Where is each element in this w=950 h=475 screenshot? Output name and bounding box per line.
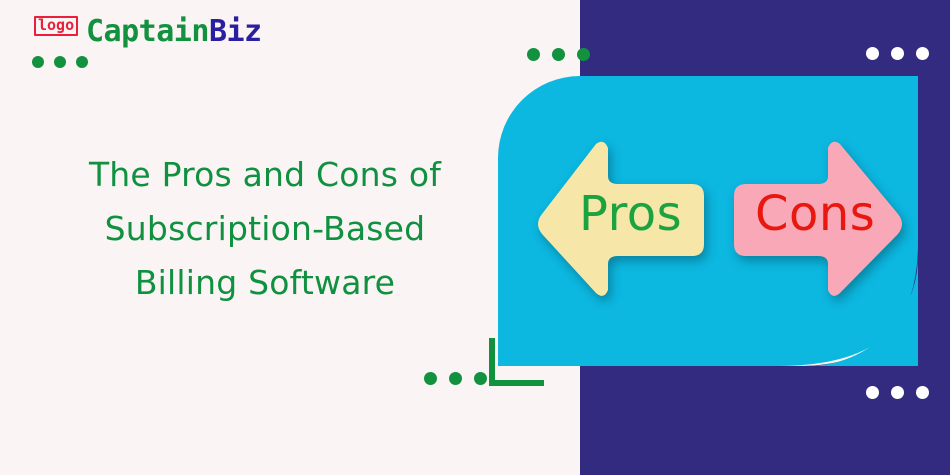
brand-name-biz: Biz — [209, 14, 262, 49]
white-dot — [916, 386, 929, 399]
decorative-dots-bottom-left — [424, 372, 487, 385]
headline-line-2: Subscription-Based — [30, 202, 500, 256]
green-dot — [577, 48, 590, 61]
logo-dot — [54, 56, 66, 68]
logo-dot — [32, 56, 44, 68]
decorative-dots-bottom-right — [866, 386, 929, 399]
green-dot — [552, 48, 565, 61]
brand-wordmark: CaptainBiz — [86, 14, 262, 50]
white-dot — [866, 386, 879, 399]
logo-dots-decoration — [32, 56, 88, 68]
logo-dot — [76, 56, 88, 68]
green-dot — [424, 372, 437, 385]
pros-arrow-label: Pros — [579, 186, 682, 242]
brand-name-captain: Captain — [86, 14, 209, 49]
headline-line-1: The Pros and Cons of — [30, 148, 500, 202]
brand-logo[interactable]: logo CaptainBiz — [28, 14, 328, 76]
white-dot — [866, 47, 879, 60]
green-dot — [527, 48, 540, 61]
banner-root: logo CaptainBiz The Pros and Cons of Sub… — [0, 0, 950, 475]
white-dot — [891, 47, 904, 60]
green-dot — [474, 372, 487, 385]
logo-badge-text: logo — [34, 16, 78, 36]
white-dot — [891, 386, 904, 399]
headline-line-3: Billing Software — [30, 256, 500, 310]
bracket-horizontal-bar — [489, 380, 544, 386]
green-dot — [449, 372, 462, 385]
decorative-dots-top-left — [527, 48, 590, 61]
cons-arrow-label: Cons — [755, 186, 875, 242]
bracket-vertical-bar — [489, 338, 495, 386]
page-title: The Pros and Cons of Subscription-Based … — [30, 148, 500, 310]
white-dot — [916, 47, 929, 60]
decorative-dots-top-right — [866, 47, 929, 60]
